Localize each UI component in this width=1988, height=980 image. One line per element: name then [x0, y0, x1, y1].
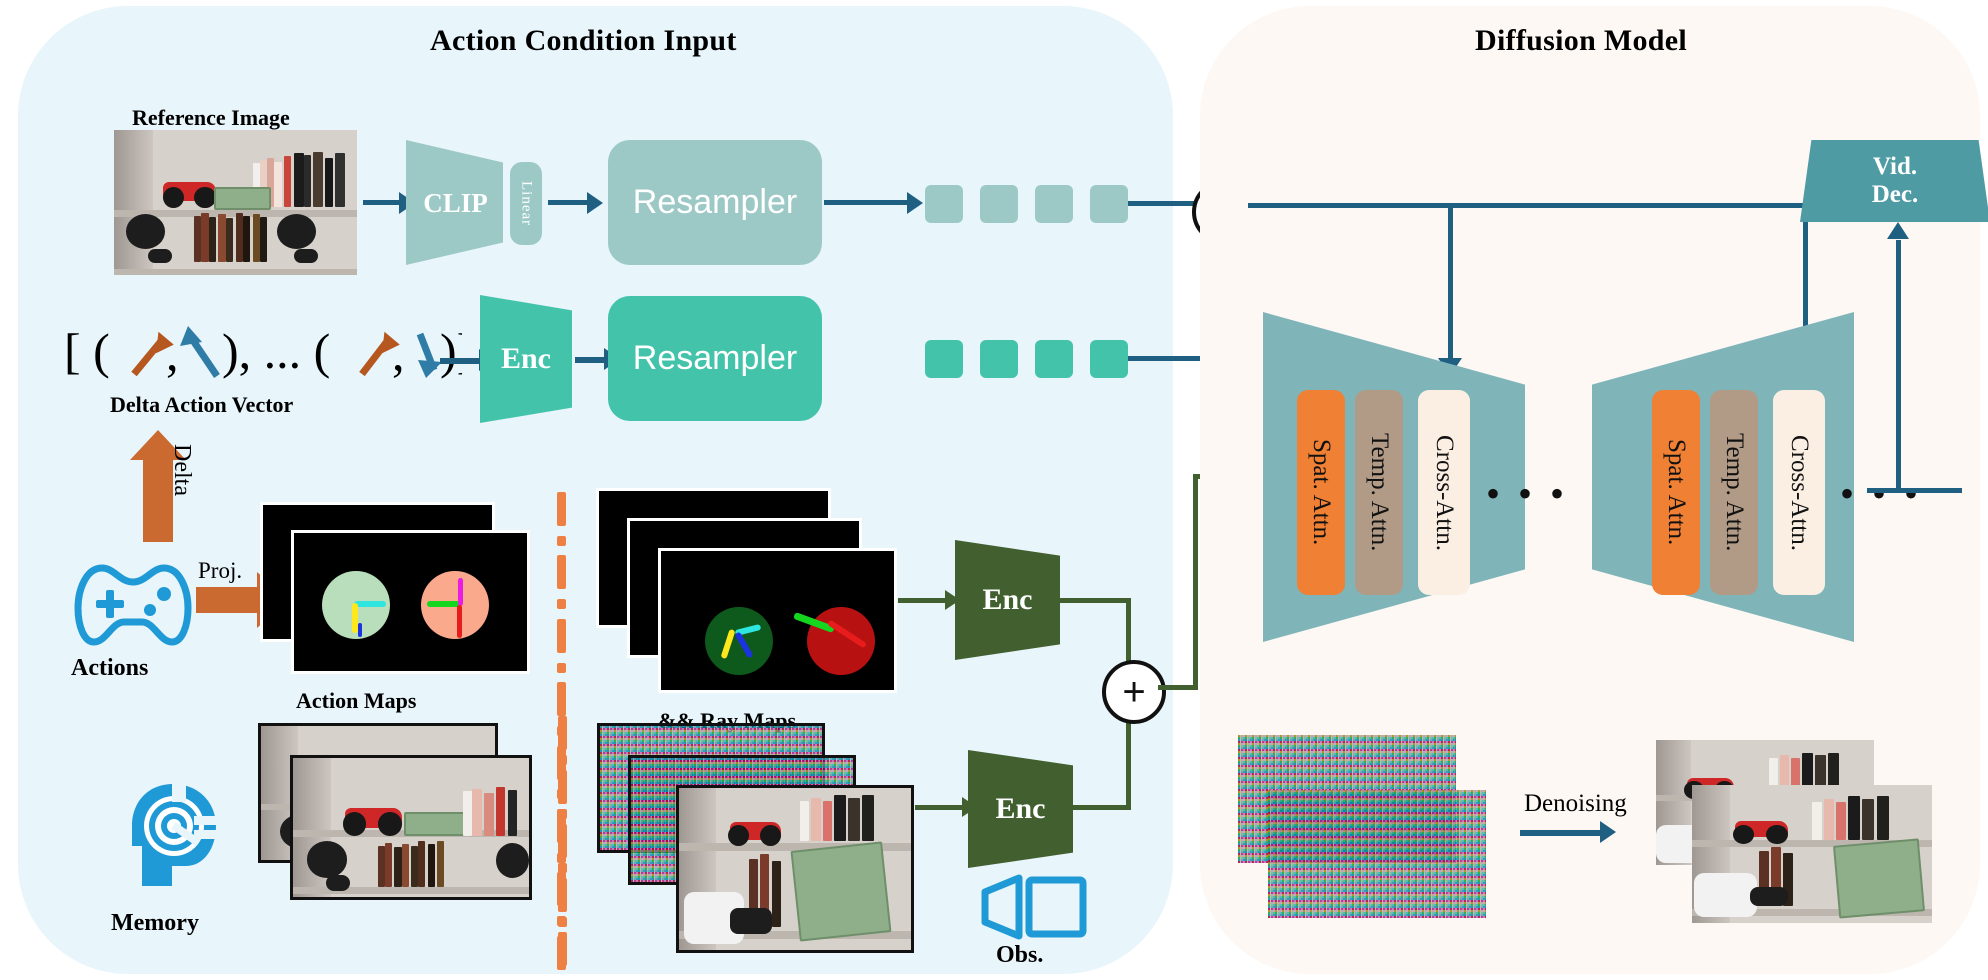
- temporal-attn-block-2: Temp. Attn.: [1710, 390, 1758, 595]
- cross-attn-label-2: Cross-Attn.: [1785, 435, 1813, 551]
- dashed-separator-memory: [556, 716, 568, 966]
- action-encoder-shape: Enc: [480, 295, 572, 423]
- brain-memory-icon: [128, 782, 218, 893]
- action-stick: [358, 623, 362, 637]
- arrow-ref-to-clip: [363, 200, 400, 205]
- actions-label: Actions: [71, 655, 148, 682]
- svg-text:), ... (: ), ... (: [222, 323, 330, 379]
- spatial-attn-label-2: Spat. Attn.: [1662, 439, 1690, 545]
- reference-image-label: Reference Image: [132, 105, 290, 131]
- arrow-raymaps-to-enc: [898, 598, 946, 603]
- delta-action-vector-label: Delta Action Vector: [110, 392, 293, 418]
- line-sum-up: [1193, 474, 1198, 688]
- diagram-canvas: Action Condition Input Reference Image: [0, 0, 1988, 980]
- spatial-attn-block-2: Spat. Attn.: [1652, 390, 1700, 595]
- delta-action-vector-expression: [ ( , ), ... ( , )]: [62, 318, 462, 384]
- cond-drop-block1: [1448, 203, 1453, 363]
- panel-title-action-condition-input: Action Condition Input: [430, 24, 737, 58]
- observation-frame-front: [676, 785, 914, 953]
- reference-image-thumbnail: [114, 130, 357, 275]
- memory-frame-front: [290, 755, 532, 900]
- action-stick: [458, 578, 463, 606]
- obs-label: Obs.: [996, 942, 1043, 969]
- obs-encoder-shape: Enc: [968, 750, 1073, 868]
- svg-text:)]: )]: [440, 323, 462, 379]
- resampler-image-branch: Resampler: [608, 140, 822, 265]
- action-token: [925, 340, 963, 378]
- cross-attn-block-1: Cross-Attn.: [1418, 390, 1470, 595]
- action-map-frame-front: [291, 530, 530, 674]
- arrowhead: [907, 192, 923, 214]
- arrow-enc-to-resampler: [575, 357, 605, 363]
- map-encoder-label: Enc: [982, 583, 1032, 617]
- action-token: [1090, 340, 1128, 378]
- action-stick: [427, 601, 461, 607]
- video-decoder-line2: Dec.: [1872, 181, 1919, 209]
- ray-map-frame-front: [658, 548, 897, 693]
- video-decoder-line1: Vid.: [1873, 153, 1917, 181]
- arrow-delta-to-enc: [440, 358, 480, 364]
- line-obs-enc-out: [1071, 805, 1131, 810]
- resampler-action-branch: Resampler: [608, 296, 822, 421]
- panel-title-diffusion-model: Diffusion Model: [1475, 24, 1687, 58]
- arrow-obs-to-enc: [915, 805, 963, 810]
- sum-symbol-2: +: [1122, 670, 1145, 715]
- action-stick: [354, 601, 386, 607]
- resampler-image-label: Resampler: [633, 183, 797, 222]
- resampler-action-label: Resampler: [633, 339, 797, 378]
- action-stick: [457, 605, 462, 638]
- obs-encoder-label: Enc: [995, 792, 1045, 826]
- cross-attn-block-2: Cross-Attn.: [1773, 390, 1825, 595]
- denoise-input-frame-front: [1268, 790, 1486, 918]
- spatial-attn-block-1: Spat. Attn.: [1297, 390, 1345, 595]
- svg-text:,: ,: [392, 325, 405, 381]
- gamepad-icon: [68, 560, 198, 657]
- image-token: [1090, 185, 1128, 223]
- line-sum-out: [1158, 685, 1198, 690]
- cross-attn-label-1: Cross-Attn.: [1430, 435, 1458, 551]
- line-obs-enc-up: [1126, 718, 1131, 808]
- delta-label: Delta: [168, 444, 195, 496]
- svg-text:,: ,: [166, 325, 179, 381]
- cond-bus-horizontal: [1248, 203, 1808, 208]
- temporal-attn-block-1: Temp. Attn.: [1355, 390, 1403, 595]
- arrow-linear-to-resampler: [548, 200, 588, 205]
- linear-label: Linear: [518, 181, 535, 226]
- image-token: [1035, 185, 1073, 223]
- clip-label: CLIP: [418, 188, 493, 219]
- map-encoder-shape: Enc: [955, 540, 1060, 660]
- spatial-attn-label-1: Spat. Attn.: [1307, 439, 1335, 545]
- arrowhead: [1600, 821, 1616, 843]
- unet-ellipsis-1: • • •: [1486, 474, 1568, 514]
- action-encoder-label: Enc: [501, 342, 551, 376]
- temporal-attn-label-2: Temp. Attn.: [1720, 433, 1748, 551]
- video-decoder-block: Vid. Dec.: [1800, 140, 1988, 222]
- arrow-denoising: [1520, 830, 1602, 836]
- image-token: [925, 185, 963, 223]
- action-maps-label: Action Maps: [296, 688, 416, 714]
- camera-obs-icon: [975, 874, 1087, 945]
- line-unet-out: [1867, 488, 1962, 493]
- delta-arrow-label-wrap: Delta: [168, 444, 195, 501]
- line-map-enc-out: [1058, 598, 1130, 603]
- unet-ellipsis-2: • • •: [1840, 474, 1922, 514]
- linear-projection-box: Linear: [510, 162, 542, 245]
- arrowhead: [587, 192, 603, 214]
- action-token: [980, 340, 1018, 378]
- arrow-resampler-to-tokens: [824, 200, 908, 205]
- image-token: [980, 185, 1018, 223]
- proj-label: Proj.: [198, 558, 242, 584]
- action-token: [1035, 340, 1073, 378]
- denoise-output-frame-front: [1692, 785, 1932, 923]
- latent-sum-node: +: [1102, 660, 1166, 724]
- denoising-label: Denoising: [1524, 790, 1627, 818]
- proj-arrow-body: [196, 587, 258, 613]
- svg-text:[ (: [ (: [64, 323, 110, 379]
- temporal-attn-label-1: Temp. Attn.: [1365, 433, 1393, 551]
- arrowhead: [1887, 222, 1909, 239]
- memory-label: Memory: [111, 910, 199, 937]
- line-to-viddec: [1896, 240, 1901, 490]
